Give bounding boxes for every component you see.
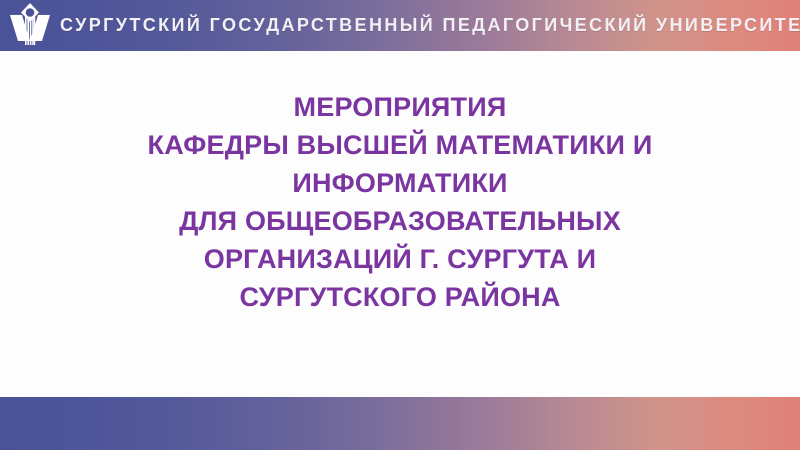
title-line-4: ДЛЯ ОБЩЕОБРАЗОВАТЕЛЬНЫХ xyxy=(0,202,800,240)
slide-title-block: МЕРОПРИЯТИЯ КАФЕДРЫ ВЫСШЕЙ МАТЕМАТИКИ И … xyxy=(0,88,800,316)
title-line-3: ИНФОРМАТИКИ xyxy=(0,164,800,202)
footer-band xyxy=(0,397,800,450)
title-line-5: ОРГАНИЗАЦИЙ Г. СУРГУТА И xyxy=(0,240,800,278)
title-line-1: МЕРОПРИЯТИЯ xyxy=(0,88,800,126)
sgpu-emblem-icon xyxy=(8,3,52,49)
title-line-6: СУРГУТСКОГО РАЙОНА xyxy=(0,278,800,316)
presentation-slide: СУРГУТСКИЙ ГОСУДАРСТВЕННЫЙ ПЕДАГОГИЧЕСКИ… xyxy=(0,0,800,450)
university-name: СУРГУТСКИЙ ГОСУДАРСТВЕННЫЙ ПЕДАГОГИЧЕСКИ… xyxy=(60,0,800,51)
header-band: СУРГУТСКИЙ ГОСУДАРСТВЕННЫЙ ПЕДАГОГИЧЕСКИ… xyxy=(0,0,800,51)
header-content: СУРГУТСКИЙ ГОСУДАРСТВЕННЫЙ ПЕДАГОГИЧЕСКИ… xyxy=(0,0,800,51)
title-line-2: КАФЕДРЫ ВЫСШЕЙ МАТЕМАТИКИ И xyxy=(0,126,800,164)
